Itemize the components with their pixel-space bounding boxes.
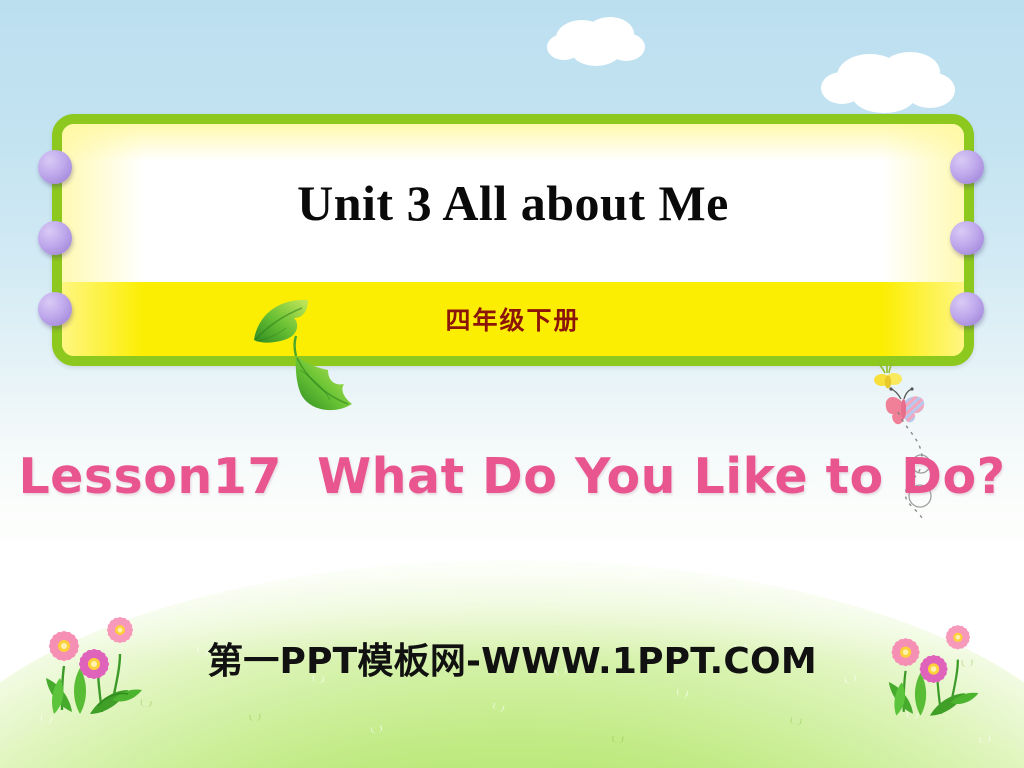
watermark-text: 第一PPT模板网-WWW.1PPT.COM	[0, 632, 1024, 684]
leaf-upper	[250, 296, 312, 348]
leaf-lower	[290, 356, 362, 418]
bead-left-1	[38, 150, 72, 184]
cloud-large	[818, 48, 978, 118]
bead-left-3	[38, 292, 72, 326]
bead-right-2	[950, 221, 984, 255]
grade-subtitle: 四年级下册	[445, 301, 580, 337]
lesson-title: Lesson17 What Do You Like to Do?	[0, 448, 1024, 505]
cloud-small	[544, 14, 664, 70]
bead-left-2	[38, 221, 72, 255]
title-card: 四年级下册 Unit 3 All about Me	[52, 114, 974, 366]
title-panel: Unit 3 All about Me	[62, 124, 964, 282]
title-banner: 四年级下册	[62, 282, 964, 356]
slide-canvas: 四年级下册 Unit 3 All about Me	[0, 0, 1024, 768]
bead-right-1	[950, 150, 984, 184]
page-title: Unit 3 All about Me	[297, 174, 729, 232]
bead-right-3	[950, 292, 984, 326]
